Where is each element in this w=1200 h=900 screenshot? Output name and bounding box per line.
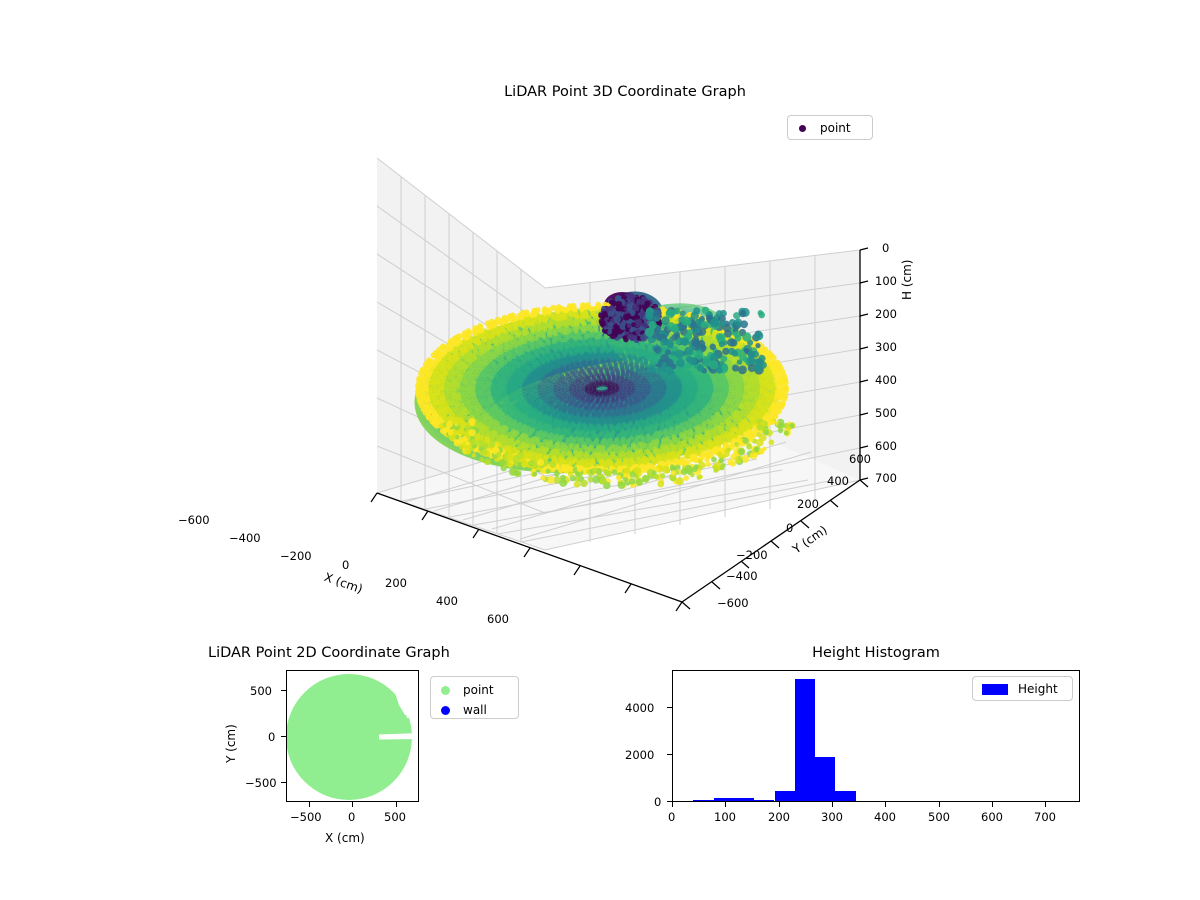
plot3d-ytick-1: −400 [726,569,758,583]
plot2d-xtick-0: 0 [348,810,355,824]
plot2d-ytick-m500: −500 [245,776,277,790]
histogram-title: Height Histogram [672,645,1080,661]
plot3d-ztick-0: 0 [882,241,889,255]
plot2d-ytick-0: 0 [268,730,275,744]
plot2d-legend-label-wall: wall [463,703,487,717]
plot3d-legend-label: point [820,121,851,135]
histogram-bar [795,679,815,801]
hist-ytick-0: 0 [654,795,661,809]
height-swatch-icon [982,684,1008,695]
hist-xtick-600: 600 [981,810,1003,824]
plot3d-xtick-1: −400 [229,531,261,545]
plot3d-legend[interactable]: point [787,115,873,140]
hist-xtickmark-700 [1045,802,1046,807]
histogram-bar [693,800,713,801]
hist-xtick-500: 500 [928,810,950,824]
plot3d-frame [330,140,920,620]
plot2d-xtick-m500: −500 [290,810,322,824]
plot2d-xtickmark-500 [396,802,397,807]
plot3d-ytick-0: −600 [717,596,749,610]
plot3d-ztick-2: 200 [875,307,897,321]
plot3d-ztick-7: 700 [875,471,897,485]
plot3d-xtick-4: 200 [385,576,407,590]
hist-xtick-200: 200 [768,810,790,824]
plot3d-ytick-3: 0 [786,521,793,535]
plot2d-title: LiDAR Point 2D Coordinate Graph [208,645,450,661]
plot2d-yaxis-label: Y (cm) [224,724,238,763]
plot2d-xtick-500: 500 [384,810,406,824]
plot2d-legend-label-point: point [463,683,494,697]
hist-xtick-300: 300 [821,810,843,824]
hist-ytickmark-2000 [667,754,672,755]
hist-xtickmark-500 [939,802,940,807]
plot2d-ytickmark-500 [281,690,286,691]
histogram-bar [714,798,734,801]
hist-xtickmark-100 [725,802,726,807]
plot3d-ztick-3: 300 [875,340,897,354]
hist-ytickmark-4000 [667,707,672,708]
plot3d-xtick-5: 400 [436,594,458,608]
plot3d-legend-item-point[interactable]: point [795,118,865,138]
plot3d-ytick-4: 200 [797,497,819,511]
hist-ytick-2000: 2000 [625,748,654,762]
plot3d-title: LiDAR Point 3D Coordinate Graph [330,84,920,100]
plot3d-ztick-5: 500 [875,406,897,420]
point-marker-icon [799,125,806,132]
plot2d-xaxis-label: X (cm) [325,831,365,845]
plot3d-xtick-6: 600 [487,612,509,626]
hist-xtickmark-0 [672,802,673,807]
hist-xtickmark-600 [992,802,993,807]
plot2d-pointcloud [287,671,419,802]
plot3d-ytick-5: 400 [827,474,849,488]
histogram-bar [754,800,774,801]
plot3d-xtick-2: −200 [280,549,312,563]
plot3d-ytick-6: 600 [849,452,871,466]
hist-ytick-4000: 4000 [625,701,654,715]
plot2d-ytickmark-0 [281,736,286,737]
histogram-legend-item-height[interactable]: Height [980,679,1065,699]
histogram-bar [815,757,835,801]
plot2d-legend[interactable]: point wall [430,676,519,719]
histogram-legend-label: Height [1018,682,1058,696]
hist-xtick-400: 400 [874,810,896,824]
hist-xtickmark-300 [832,802,833,807]
figure-canvas: LiDAR Point 3D Coordinate Graph [0,0,1200,900]
plot3d-axes[interactable] [330,140,920,620]
plot3d-zaxis-label: H (cm) [900,260,914,301]
hist-xtick-100: 100 [714,810,736,824]
plot3d-ztick-4: 400 [875,373,897,387]
histogram-bar [775,791,795,801]
plot3d-xtick-3: 0 [342,558,349,572]
plot2d-axes[interactable] [286,670,419,802]
histogram-legend[interactable]: Height [972,676,1073,701]
wall-marker-icon [441,706,450,715]
plot2d-xtickmark-0 [352,802,353,807]
plot2d-legend-item-point[interactable]: point [438,680,511,700]
plot3d-ztick-6: 600 [875,439,897,453]
plot2d-legend-item-wall[interactable]: wall [438,700,511,720]
histogram-bar [734,798,754,801]
plot2d-ytick-500: 500 [250,684,272,698]
histogram-bar [835,791,855,801]
plot3d-xtick-0: −600 [178,513,210,527]
hist-xtick-0: 0 [668,810,675,824]
hist-xtickmark-200 [779,802,780,807]
plot2d-xtickmark-m500 [309,802,310,807]
point-marker-icon [441,686,450,695]
plot3d-ytick-2: −200 [736,548,768,562]
plot3d-ztick-1: 100 [875,274,897,288]
hist-xtickmark-400 [885,802,886,807]
hist-xtick-700: 700 [1034,810,1056,824]
plot2d-ytickmark-m500 [281,782,286,783]
